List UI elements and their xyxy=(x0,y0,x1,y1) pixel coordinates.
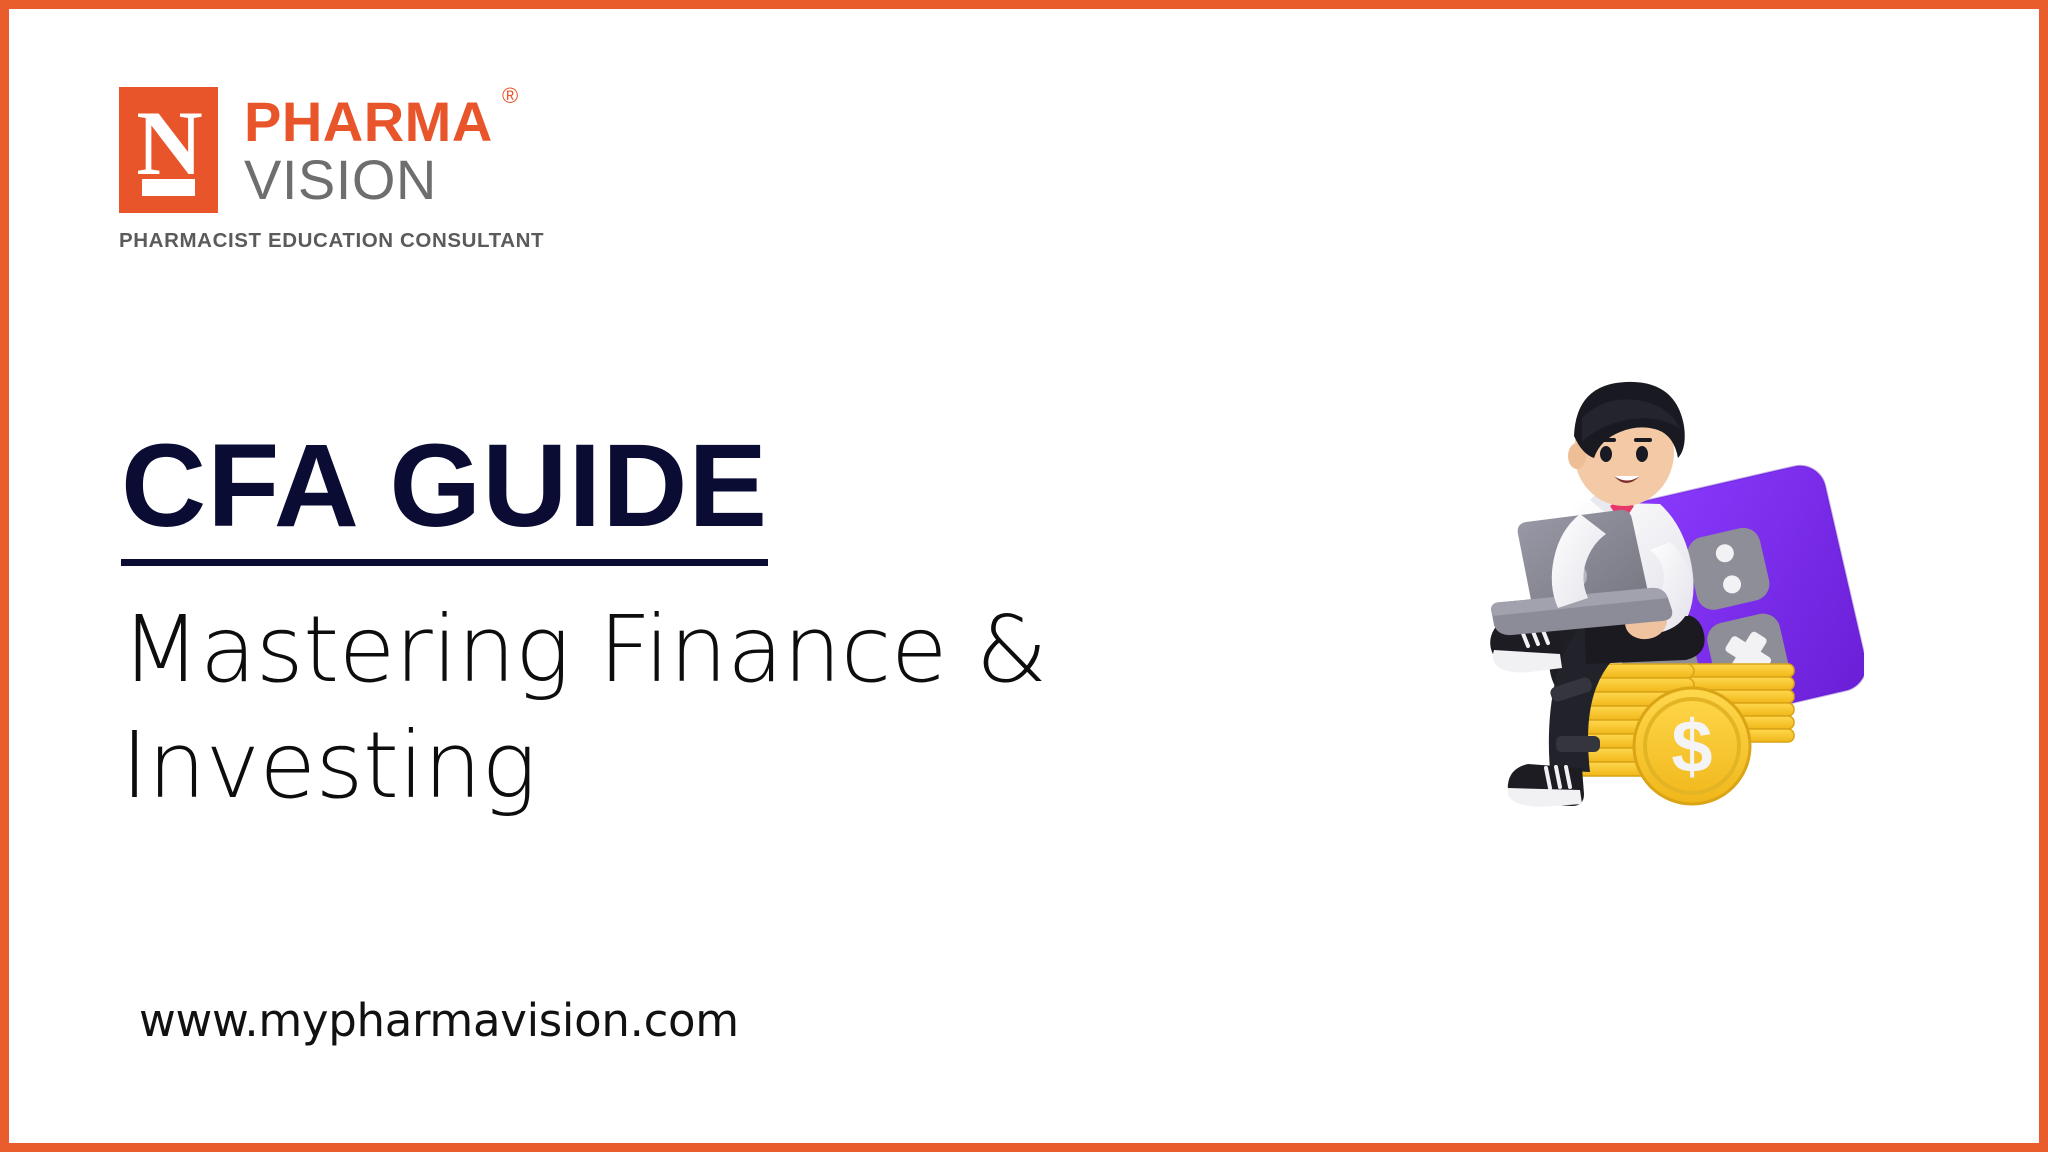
logo-text-pharma: PHARMA® xyxy=(244,95,493,149)
logo-underline-bar xyxy=(142,179,195,196)
eye-left xyxy=(1600,446,1612,462)
page-subtitle: Mastering Finance & Investing xyxy=(121,592,1181,824)
brand-logo[interactable]: N PHARMA® VISION PHARMACIST EDUCATION CO… xyxy=(119,87,544,253)
head xyxy=(1568,382,1685,506)
businessman-coins-calculator-illustration: $ xyxy=(1464,364,1864,809)
logo-tagline: PHARMACIST EDUCATION CONSULTANT xyxy=(119,229,544,253)
banner-canvas: N PHARMA® VISION PHARMACIST EDUCATION CO… xyxy=(0,0,2048,1152)
headline-group: CFA GUIDE Mastering Finance & Investing xyxy=(121,427,1181,824)
logo-wordmark: PHARMA® VISION xyxy=(244,87,493,209)
dollar-coin: $ xyxy=(1634,688,1750,804)
registered-trademark-icon: ® xyxy=(502,85,519,107)
page-title: CFA GUIDE xyxy=(121,427,768,566)
eye-right xyxy=(1636,446,1648,462)
logo-pharma-label: PHARMA xyxy=(244,90,493,153)
website-url[interactable]: www.mypharmavision.com xyxy=(139,994,739,1047)
dollar-symbol: $ xyxy=(1671,705,1712,788)
hero-illustration: $ xyxy=(1464,364,1864,809)
logo-mark-icon: N xyxy=(119,87,218,213)
logo-row: N PHARMA® VISION xyxy=(119,87,544,213)
logo-text-vision: VISION xyxy=(244,151,493,209)
logo-letter-n: N xyxy=(119,97,218,189)
